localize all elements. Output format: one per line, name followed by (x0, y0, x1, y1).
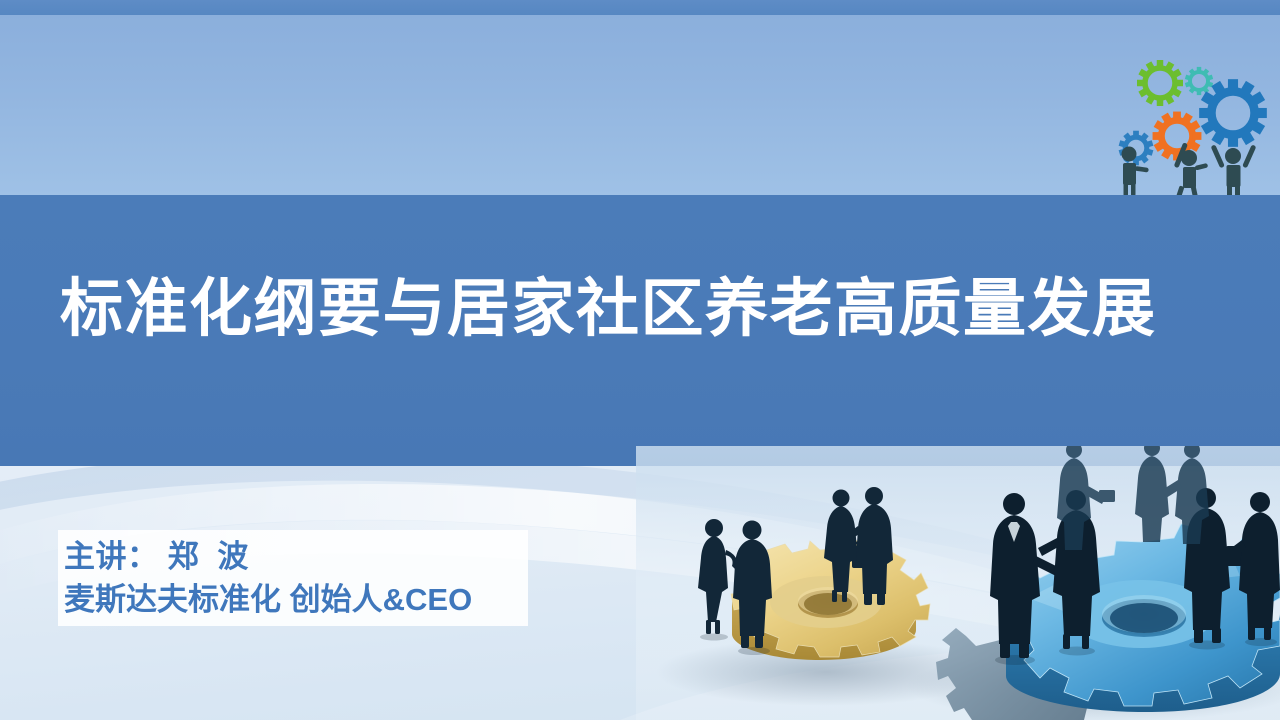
top-accent-rule (0, 0, 1280, 15)
gear-blue-small-icon (1119, 131, 1152, 166)
presentation-slide: 标准化纲要与居家社区养老高质量发展 (0, 0, 1280, 720)
presenter-title-line: 麦斯达夫标准化 创始人&CEO (64, 579, 528, 622)
business-team-on-gears-illustration (636, 446, 1280, 720)
gear-blue-large-icon (1199, 79, 1267, 147)
gears-with-people-icon (1115, 48, 1280, 196)
presenter-name-line: 主讲： 郑 波 (64, 536, 528, 579)
gear-teal-small-icon (1186, 67, 1213, 95)
people-figures-icon (1122, 142, 1257, 196)
person-figure-3 (1211, 144, 1257, 196)
upper-background-panel (0, 15, 1280, 195)
page-title: 标准化纲要与居家社区养老高质量发展 (60, 276, 1240, 342)
presenter-info-box: 主讲： 郑 波 麦斯达夫标准化 创始人&CEO (58, 530, 528, 626)
gear-green-icon (1137, 60, 1183, 106)
